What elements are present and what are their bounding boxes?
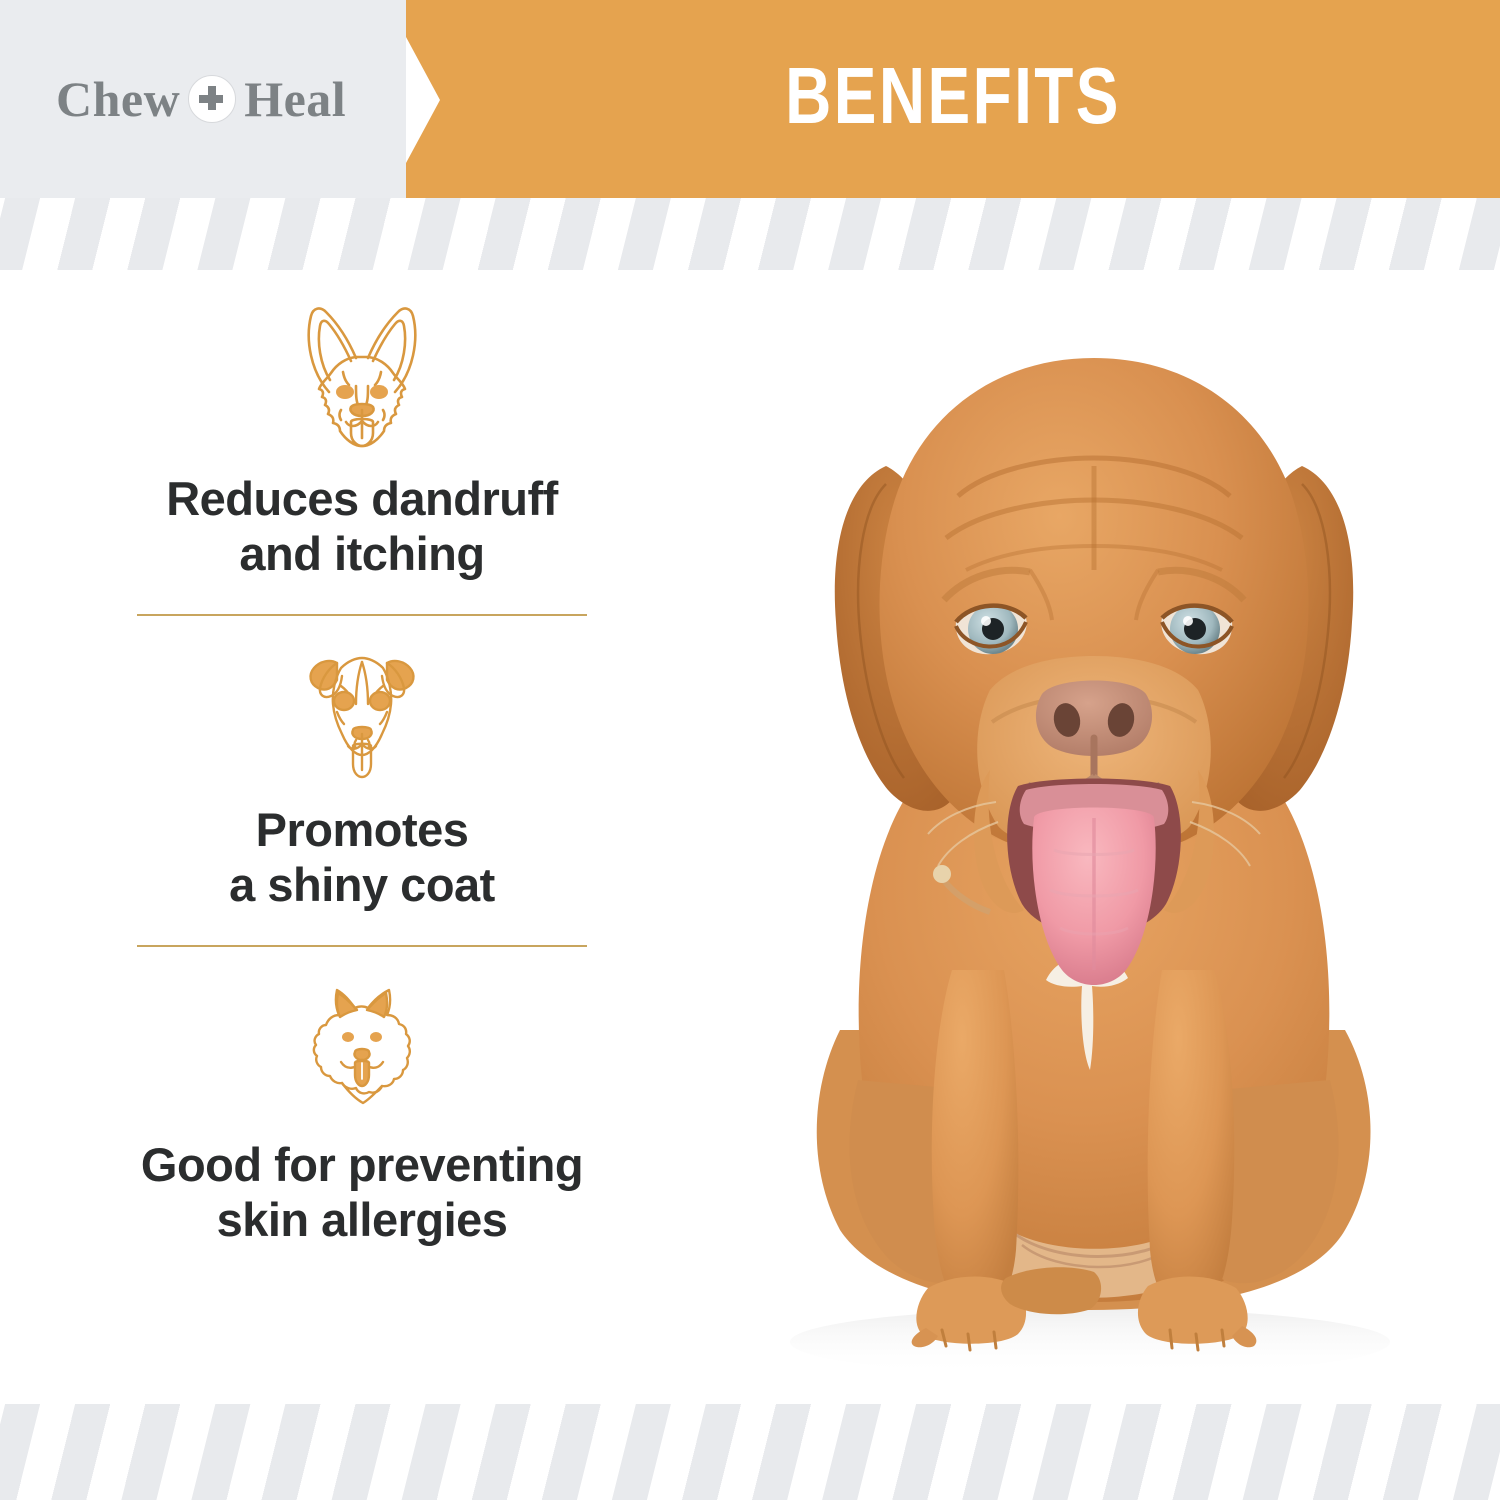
corgi-dog-face-icon: [52, 300, 672, 450]
stripe-pattern: [0, 198, 1500, 270]
benefit-text: Promotes a shiny coat: [52, 803, 672, 913]
stripe-pattern: [0, 1404, 1500, 1500]
top-stripe-band: [0, 198, 1500, 270]
terrier-dog-face-icon: [52, 646, 672, 781]
benefit-divider: [137, 945, 587, 947]
benefit-text: Good for preventing skin allergies: [52, 1138, 672, 1248]
plus-icon: [188, 75, 236, 123]
benefit-item: Reduces dandruff and itching: [52, 300, 672, 616]
plus-icon-vertical-bar: [208, 86, 216, 110]
benefit-item: Promotes a shiny coat: [52, 646, 672, 947]
page-title: BENEFITS: [515, 0, 1390, 198]
benefit-item: Good for preventing skin allergies: [52, 977, 672, 1248]
bottom-stripe-band: [0, 1404, 1500, 1500]
header-banner: BENEFITS Chew Heal: [0, 0, 1500, 198]
benefit-text-line-1: Good for preventing: [52, 1138, 672, 1193]
benefit-text-line-1: Reduces dandruff: [52, 472, 672, 527]
benefit-divider: [137, 614, 587, 616]
benefits-list: Reduces dandruff and itching: [52, 300, 672, 1248]
samoyed-dog-face-icon: [52, 977, 672, 1112]
benefits-infographic: BENEFITS Chew Heal: [0, 0, 1500, 1500]
benefit-text: Reduces dandruff and itching: [52, 472, 672, 582]
dogue-de-bordeaux-puppy-sitting-photo: [690, 270, 1480, 1410]
logo-word-heal: Heal: [244, 74, 346, 124]
benefit-text-line-2: a shiny coat: [52, 858, 672, 913]
logo-word-chew: Chew: [56, 74, 180, 124]
benefit-text-line-2: skin allergies: [52, 1193, 672, 1248]
brand-logo: Chew Heal: [56, 70, 346, 128]
benefit-text-line-1: Promotes: [52, 803, 672, 858]
benefit-text-line-2: and itching: [52, 527, 672, 582]
